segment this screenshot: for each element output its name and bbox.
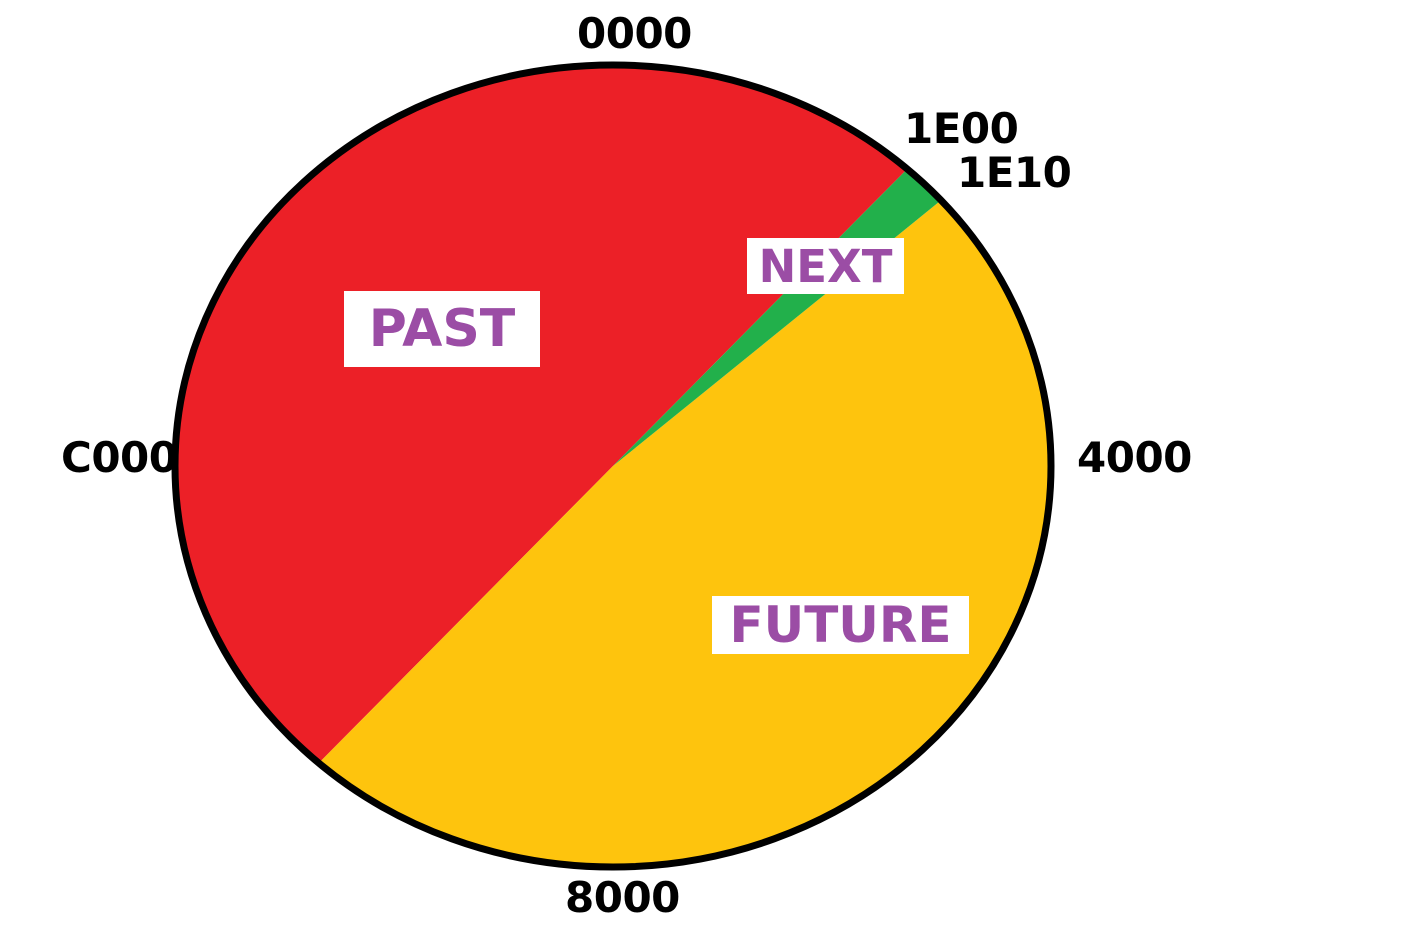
ring-label-c000: C000 xyxy=(61,437,178,479)
sector-label-next: NEXT xyxy=(747,238,904,294)
sector-label-future: FUTURE xyxy=(712,596,969,654)
pie-sectors xyxy=(176,66,1050,867)
ring-label-0000: 0000 xyxy=(577,13,692,55)
ring-label-1e10: 1E10 xyxy=(957,152,1071,194)
pie-diagram: 0000 1E00 1E10 4000 8000 C000 PAST NEXT … xyxy=(0,0,1404,949)
pie-chart-svg xyxy=(0,0,1404,949)
ring-label-8000: 8000 xyxy=(565,877,680,919)
sector-label-past: PAST xyxy=(344,291,540,367)
ring-label-1e00: 1E00 xyxy=(904,108,1018,150)
ring-label-4000: 4000 xyxy=(1077,437,1192,479)
